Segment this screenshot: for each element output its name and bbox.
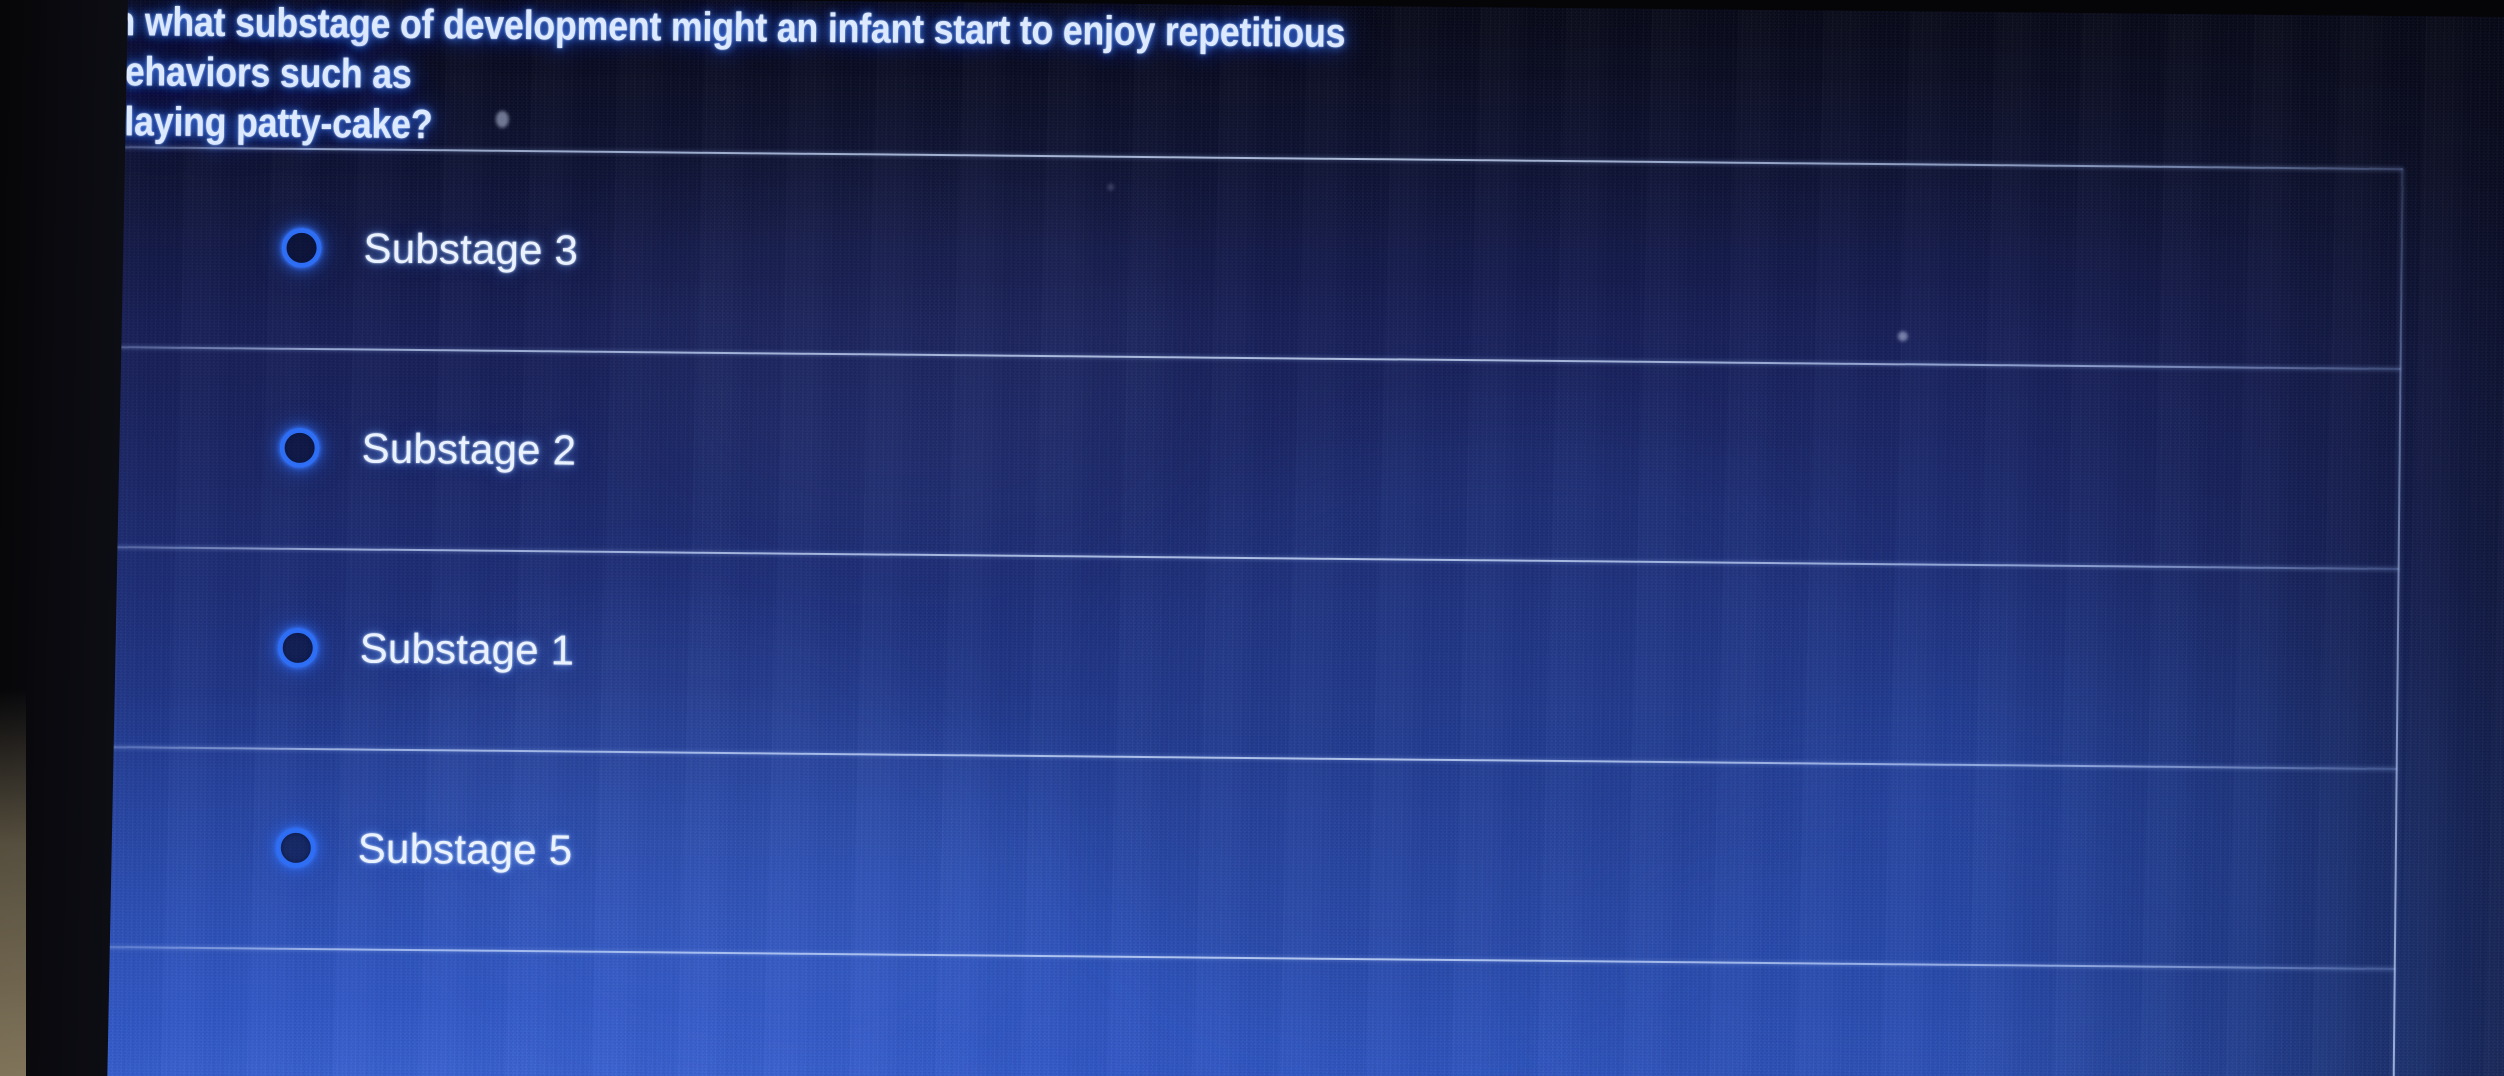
question-text: In what substage of development might an… <box>103 0 1348 158</box>
radio-unchecked-icon[interactable] <box>281 228 321 268</box>
answer-option-row[interactable]: Substage 5 <box>95 746 2397 968</box>
question-line-1: In what substage of development might an… <box>103 0 1348 108</box>
answer-option-label: Substage 2 <box>361 424 576 474</box>
answer-option-row[interactable]: Substage 1 <box>97 546 2399 768</box>
radio-unchecked-icon[interactable] <box>276 828 316 868</box>
answer-option-label: Substage 3 <box>363 225 578 275</box>
radio-unchecked-icon[interactable] <box>279 428 319 468</box>
screen-photo: In what substage of development might an… <box>0 0 2504 1076</box>
bezel-edge-highlight <box>0 690 26 1076</box>
display-panel: In what substage of development might an… <box>93 0 2504 1076</box>
quiz-content: In what substage of development might an… <box>93 0 2504 1076</box>
answer-option-row[interactable]: Substage 2 <box>99 346 2401 568</box>
radio-unchecked-icon[interactable] <box>278 628 318 668</box>
answer-option-row[interactable]: Substage 3 <box>101 146 2403 368</box>
answer-option-label: Substage 5 <box>358 824 573 874</box>
answer-option-label: Substage 1 <box>359 624 574 674</box>
